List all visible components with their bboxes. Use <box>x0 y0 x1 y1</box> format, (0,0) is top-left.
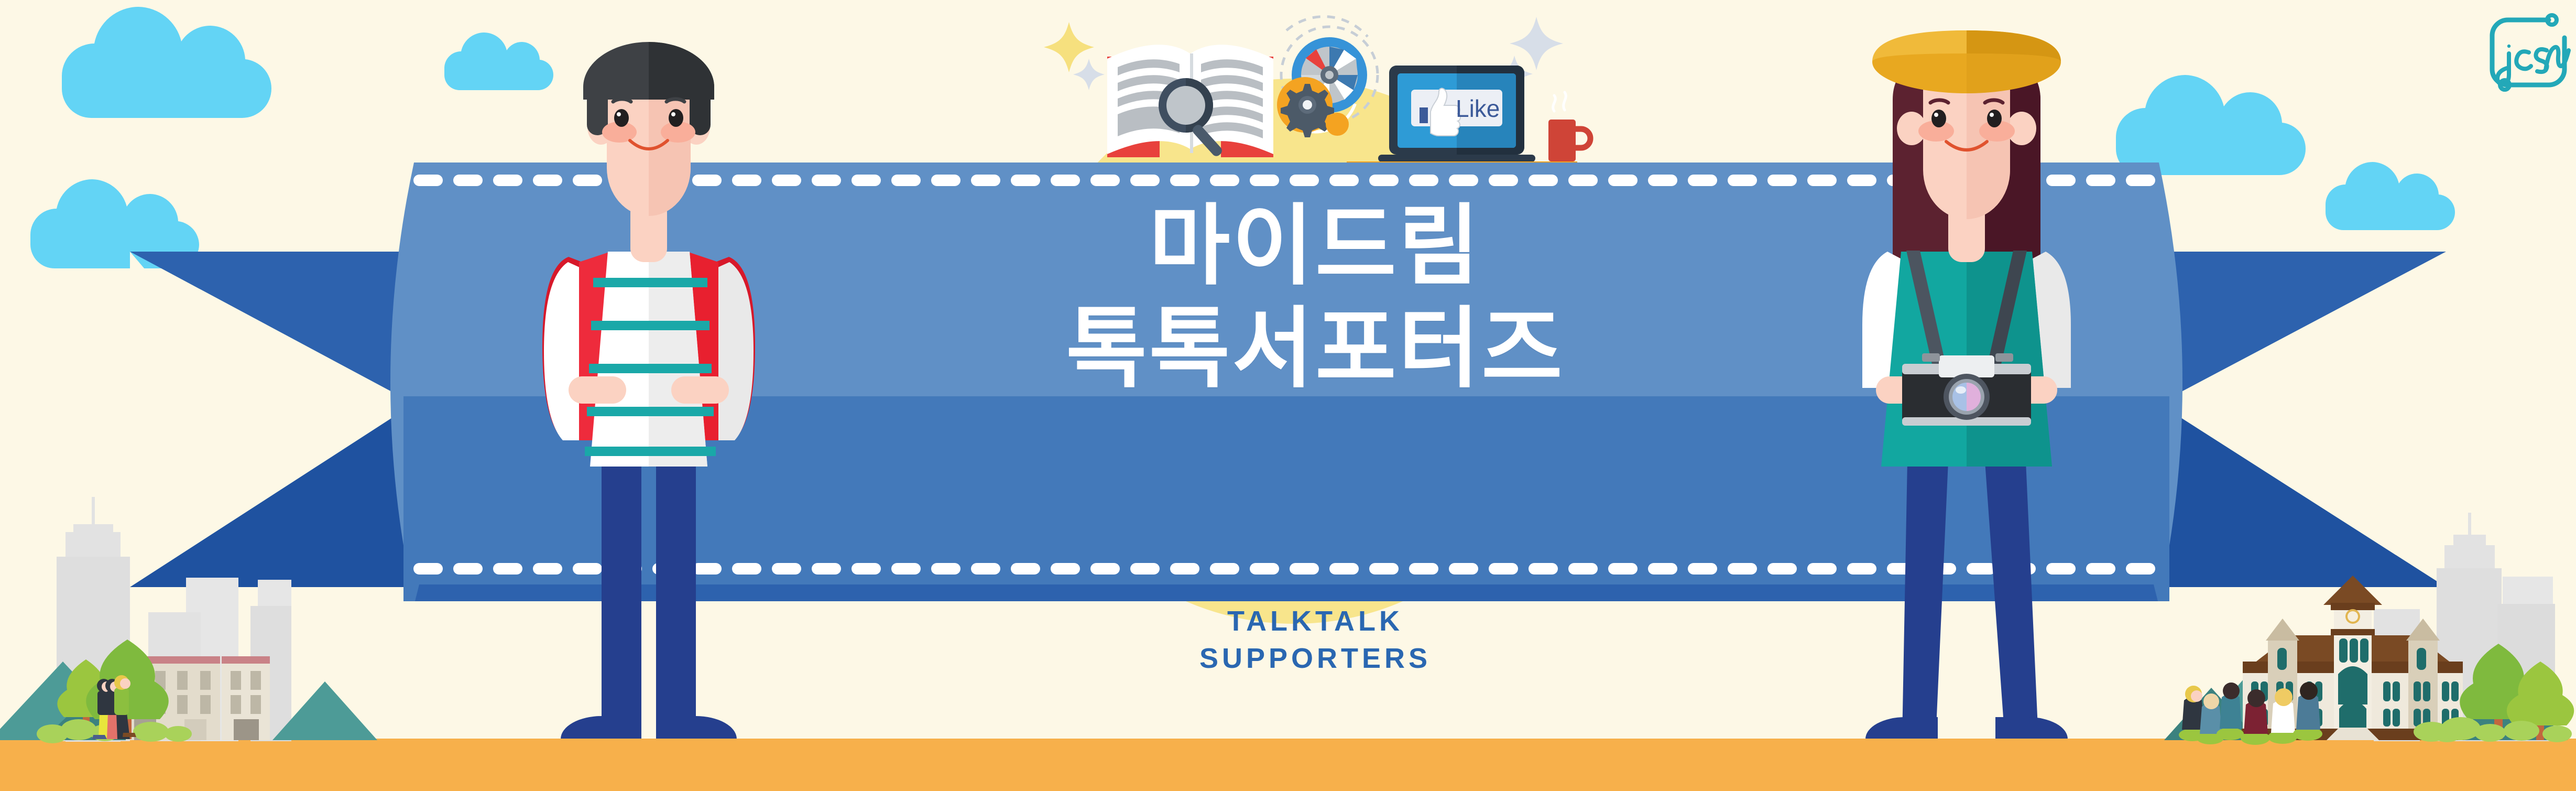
like-label: Like <box>1456 95 1500 122</box>
boy-leg-left <box>602 461 641 739</box>
camera-icon <box>1902 353 2031 426</box>
ground-strip <box>0 739 2576 791</box>
banner-canvas: Like <box>0 0 2576 791</box>
boy-hand-left <box>569 376 626 404</box>
boy-leg-right <box>656 461 696 739</box>
banner-title: 마이드림 톡톡서포터즈 <box>817 199 1813 395</box>
orange-dot <box>1326 113 1349 136</box>
girl-eye-right <box>1987 110 2002 127</box>
banner-subtitle: TALKTALK SUPPORTERS <box>817 603 1813 678</box>
laptop-base <box>1378 155 1535 162</box>
banner-title-line-1: 마이드림 <box>817 199 1813 292</box>
girl-eye-left <box>1931 110 1946 127</box>
laptop-icon: Like <box>1378 66 1535 162</box>
boy-hand-right <box>671 376 729 404</box>
banner-title-line-2: 톡톡서포터즈 <box>817 302 1813 395</box>
boy-eye-left <box>614 109 629 127</box>
banner-subtitle-line-2: SUPPORTERS <box>817 640 1813 677</box>
banner-subtitle-line-1: TALKTALK <box>817 603 1813 640</box>
boy-eye-right <box>669 109 683 127</box>
